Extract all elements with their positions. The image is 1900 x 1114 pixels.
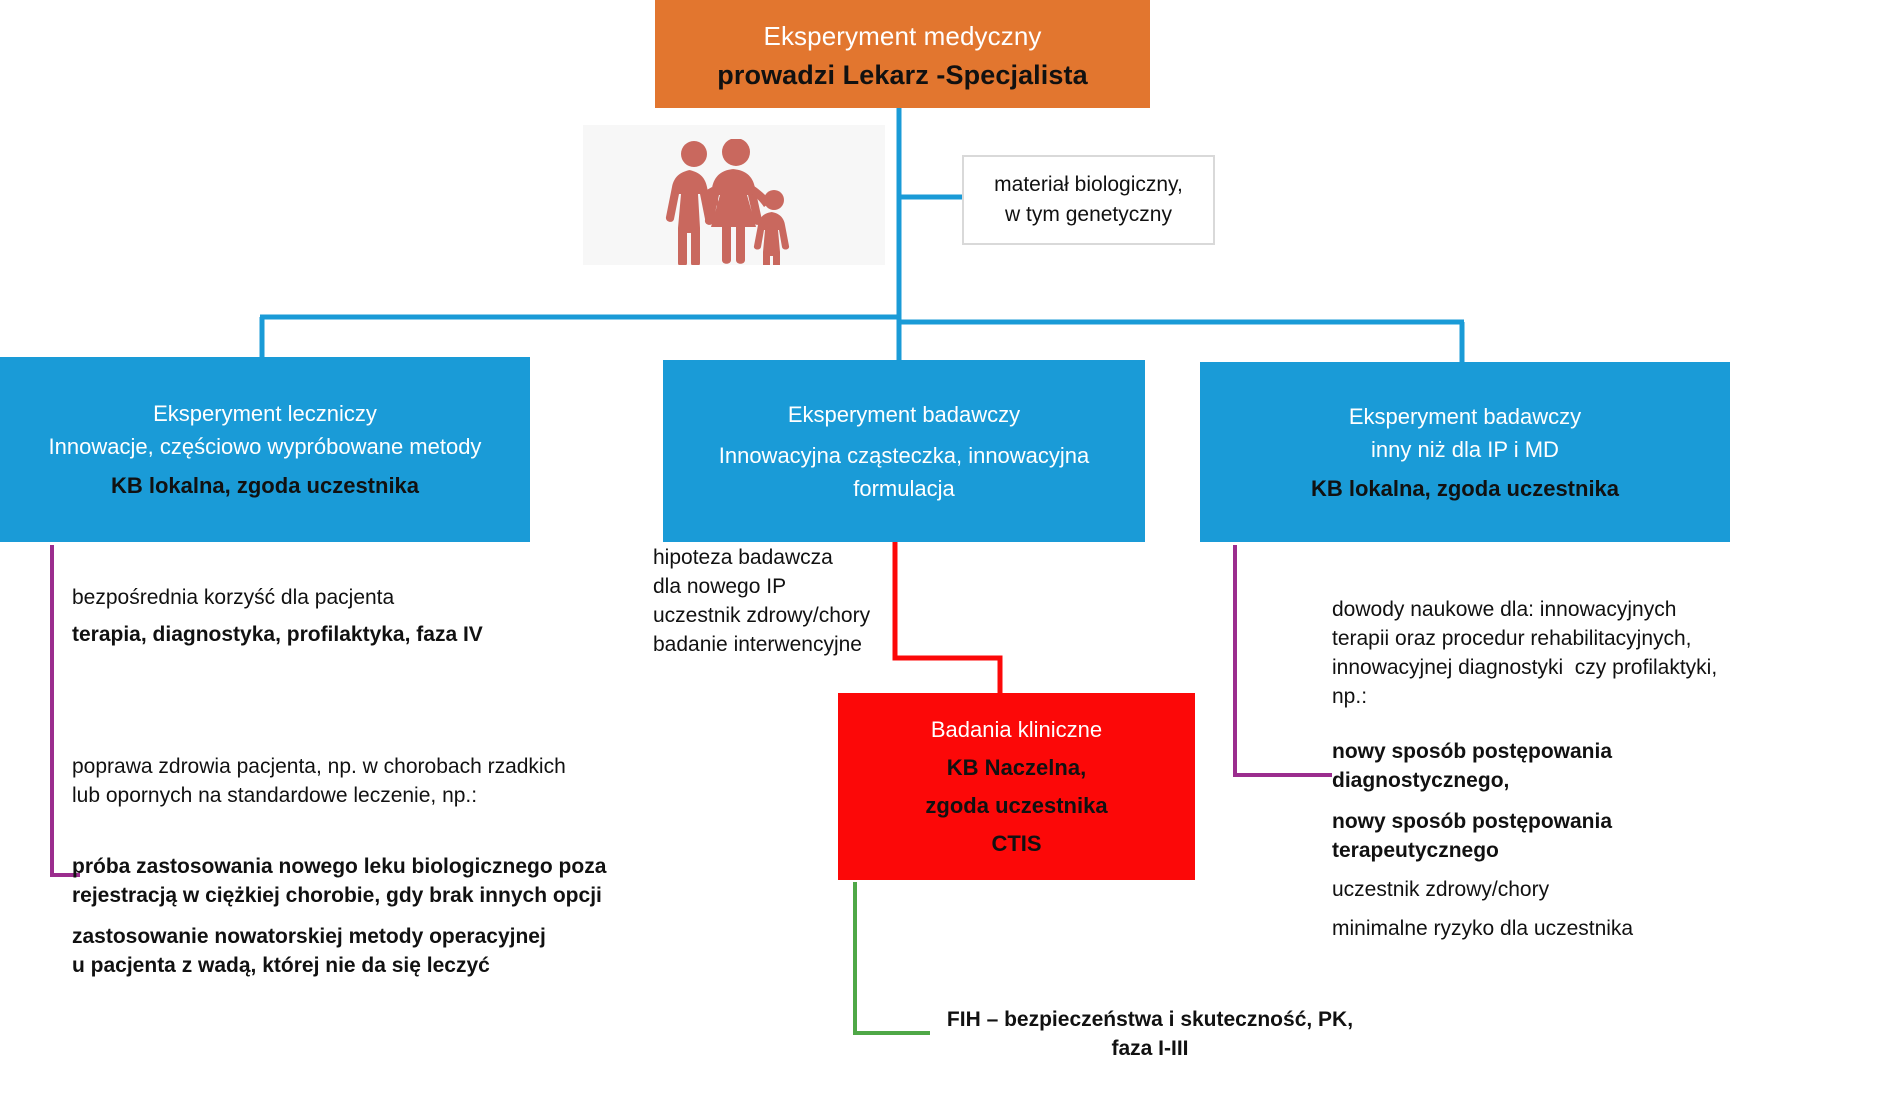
branch-left-bold: KB lokalna, zgoda uczestnika (10, 469, 520, 502)
header-title-line1: Eksperyment medyczny (655, 17, 1150, 55)
left-note-g2-bold2-line2: u pacjenta z wadą, której nie da się lec… (72, 951, 712, 980)
branch-middle-title: Eksperyment badawczy (673, 398, 1135, 431)
left-note-g2-regular-1: poprawa zdrowia pacjenta, np. w chorobac… (72, 752, 712, 781)
biological-material-note: materiał biologiczny, w tym genetyczny (962, 155, 1215, 245)
right-note-bold1-line1: nowy sposób postępowania (1332, 737, 1802, 766)
branch-right-title-line2: inny niż dla IP i MD (1210, 433, 1720, 466)
fih-note-line1: FIH – bezpieczeństwa i skuteczność, PK, (930, 1005, 1370, 1034)
right-note-regular-2: minimalne ryzyko dla uczestnika (1332, 914, 1802, 943)
clinical-trials-box: Badania kliniczne KB Naczelna, zgoda ucz… (838, 693, 1195, 880)
branch-middle-subtitle-line1: Innowacyjna cząsteczka, innowacyjna (673, 439, 1135, 472)
clinical-trials-line4: CTIS (838, 825, 1195, 863)
middle-note-line-3: uczestnik zdrowy/chory (653, 601, 913, 630)
branch-box-right: Eksperyment badawczy inny niż dla IP i M… (1200, 362, 1730, 542)
diagram-canvas: Eksperyment medyczny prowadzi Lekarz -Sp… (0, 0, 1900, 1114)
header-box: Eksperyment medyczny prowadzi Lekarz -Sp… (655, 0, 1150, 108)
left-note-g2-bold1-line1: próba zastosowania nowego leku biologicz… (72, 852, 712, 881)
middle-note-line-2: dla nowego IP (653, 572, 913, 601)
family-icon (654, 139, 814, 265)
purple-connector-right (1235, 545, 1332, 775)
right-note-intro-line2: terapii oraz procedur rehabilitacyjnych, (1332, 624, 1802, 653)
left-note-g1-regular-1: bezpośrednia korzyść dla pacjenta (72, 583, 692, 612)
left-note-g2-bold2-line1: zastosowanie nowatorskiej metody operacy… (72, 922, 712, 951)
branch-left-title: Eksperyment leczniczy (10, 397, 520, 430)
middle-note-group: hipoteza badawcza dla nowego IP uczestni… (653, 543, 913, 659)
right-note-regular-1: uczestnik zdrowy/chory (1332, 875, 1802, 904)
clinical-trials-line3: zgoda uczestnika (838, 787, 1195, 825)
branch-right-title-line1: Eksperyment badawczy (1210, 400, 1720, 433)
family-image-plate (583, 125, 885, 265)
green-connector-fih (855, 882, 930, 1033)
middle-note-line-1: hipoteza badawcza (653, 543, 913, 572)
right-note-bold2-line1: nowy sposób postępowania (1332, 807, 1802, 836)
right-note-bold1-line2: diagnostycznego, (1332, 766, 1802, 795)
right-note-intro-line1: dowody naukowe dla: innowacyjnych (1332, 595, 1802, 624)
left-note-g1-bold-1: terapia, diagnostyka, profilaktyka, faza… (72, 620, 692, 649)
branch-box-middle: Eksperyment badawczy Innowacyjna cząstec… (663, 360, 1145, 542)
header-title-line2: prowadzi Lekarz -Specjalista (655, 55, 1150, 95)
right-note-intro-line3: innowacyjnej diagnostyki czy profilaktyk… (1332, 653, 1802, 682)
right-note-intro-line4: np.: (1332, 682, 1802, 711)
clinical-trials-line1: Badania kliniczne (838, 711, 1195, 749)
right-note-bold2-line2: terapeutycznego (1332, 836, 1802, 865)
fih-note-line2: faza I-III (930, 1034, 1370, 1063)
bio-note-line1: materiał biologiczny, (964, 170, 1213, 200)
middle-note-line-4: badanie interwencyjne (653, 630, 913, 659)
right-note-details: nowy sposób postępowania diagnostycznego… (1332, 737, 1802, 943)
branch-box-left: Eksperyment leczniczy Innowacje, częścio… (0, 357, 530, 542)
left-note-g2-bold1-line2: rejestracją w ciężkiej chorobie, gdy bra… (72, 881, 712, 910)
branch-left-subtitle: Innowacje, częściowo wypróbowane metody (10, 430, 520, 463)
right-note-intro: dowody naukowe dla: innowacyjnych terapi… (1332, 595, 1802, 711)
fih-note: FIH – bezpieczeństwa i skuteczność, PK, … (930, 1005, 1370, 1063)
branch-right-bold: KB lokalna, zgoda uczestnika (1210, 472, 1720, 505)
branch-middle-subtitle-line2: formulacja (673, 472, 1135, 505)
left-note-group-1: bezpośrednia korzyść dla pacjenta terapi… (72, 583, 692, 649)
bio-note-line2: w tym genetyczny (964, 200, 1213, 230)
clinical-trials-line2: KB Naczelna, (838, 749, 1195, 787)
left-note-g2-regular-2: lub opornych na standardowe leczenie, np… (72, 781, 712, 810)
left-note-group-2: poprawa zdrowia pacjenta, np. w chorobac… (72, 752, 712, 980)
